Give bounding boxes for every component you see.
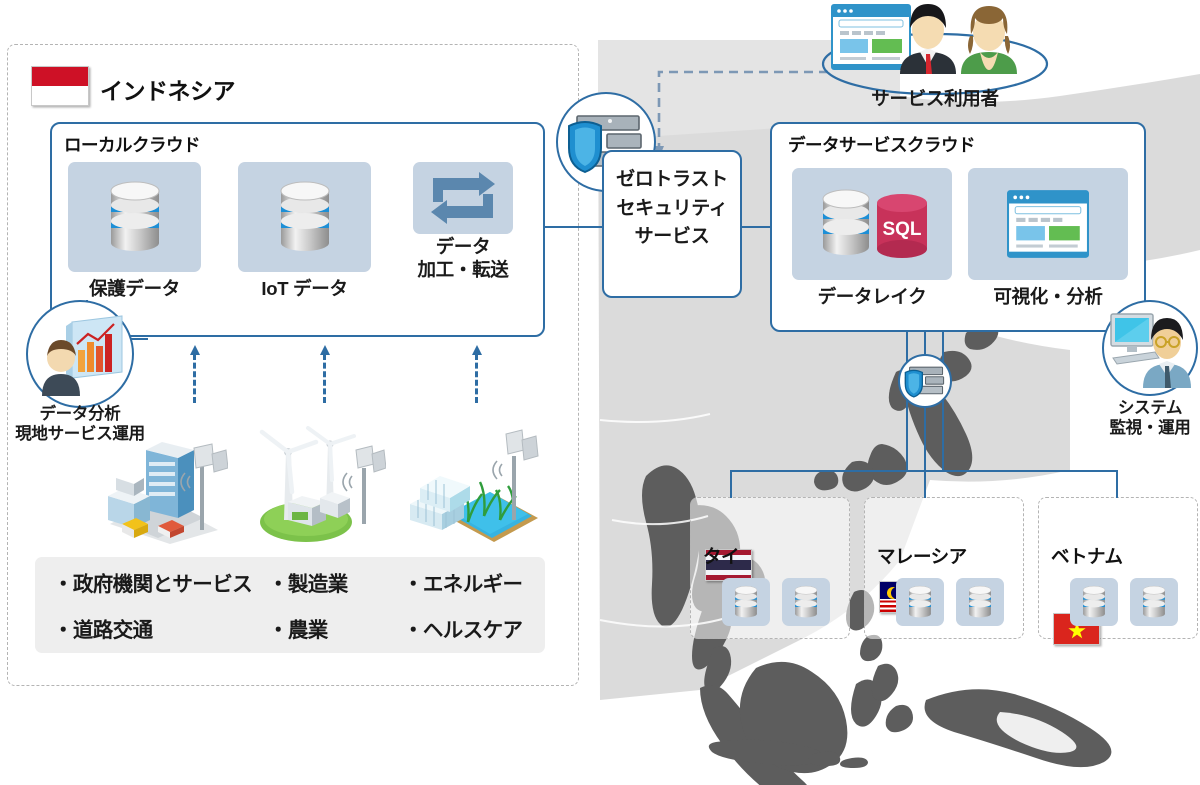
sector-item-5: ・ヘルスケア (403, 613, 527, 643)
flag-indonesia (31, 66, 89, 106)
iot-uplink-arrow-3 (472, 345, 482, 403)
database-icon (965, 583, 995, 621)
smart-city-isometric-icon (100, 432, 228, 544)
data-analyst-badge[interactable] (26, 300, 134, 408)
indonesia-label: インドネシア (100, 72, 235, 106)
sector-item-0: ・政府機関とサービス (53, 567, 268, 597)
firewall-shield-icon (904, 364, 946, 398)
local-cloud-tile-data-transfer[interactable] (413, 162, 513, 234)
sector-item-2: ・エネルギー (403, 567, 527, 597)
sector-list-panel: ・政府機関とサービス ・製造業 ・エネルギー ・道路交通 ・農業 ・ヘルスケア (35, 557, 545, 653)
database-sql-icon: SQL (807, 181, 937, 267)
data-transfer-loop-icon (425, 170, 501, 226)
sector-item-4: ・農業 (268, 613, 403, 643)
country-node-thailand-1[interactable] (722, 578, 770, 626)
database-icon (102, 177, 168, 257)
local-cloud-tile-iot-data[interactable] (238, 162, 371, 272)
data-analyst-label: データ分析現地サービス運用 (0, 404, 160, 444)
database-icon (272, 177, 338, 257)
database-icon (905, 583, 935, 621)
country-node-vietnam-1[interactable] (1070, 578, 1118, 626)
wind-farm-isometric-icon (258, 426, 386, 544)
local-cloud-caption-protected-data: 保護データ (68, 278, 201, 301)
diagram-canvas: インドネシア ローカルクラウド 保護データ (0, 0, 1200, 785)
connector-bus-to-malaysia (924, 470, 926, 498)
database-icon (1139, 583, 1169, 621)
map-sulawesi (851, 664, 913, 733)
iot-uplink-arrow-1 (190, 345, 200, 403)
country-node-malaysia-1[interactable] (896, 578, 944, 626)
local-cloud-caption-iot-data: IoT データ (238, 278, 371, 301)
connector-localcloud-zerotrust (545, 226, 603, 228)
zero-trust-line3: サービス (635, 226, 710, 247)
svg-text:SQL: SQL (882, 219, 921, 240)
system-operator-label: システム監視・運用 (1086, 398, 1200, 438)
sector-item-1: ・製造業 (268, 567, 403, 597)
system-operator-person-icon (1107, 308, 1193, 388)
data-analysis-person-icon (32, 310, 128, 398)
iot-uplink-arrow-2 (320, 345, 330, 403)
japan-firewall-badge (898, 354, 952, 408)
system-operator-badge[interactable] (1102, 300, 1198, 396)
data-service-cloud-title: データサービスクラウド (788, 132, 975, 157)
country-label-malaysia: マレーシア (877, 543, 967, 569)
dashboard-window-icon (1007, 190, 1089, 258)
connector-bus-to-thailand (730, 470, 732, 498)
country-label-thailand: タイ (703, 543, 739, 569)
zero-trust-line2: セキュリティ (616, 198, 727, 219)
data-service-tile-data-lake[interactable]: SQL (792, 168, 952, 280)
data-service-caption-data-lake: データレイク (792, 286, 952, 309)
local-cloud-title: ローカルクラウド (64, 132, 200, 157)
data-service-caption-visualization: 可視化・分析 (968, 286, 1128, 309)
database-icon (791, 583, 821, 621)
service-users-label: サービス利用者 (820, 88, 1050, 111)
connector-firewall-down (924, 398, 926, 472)
local-cloud-caption-data-transfer: データ加工・転送 (406, 236, 520, 281)
connector-zerotrust-dataservice (740, 226, 772, 228)
connector-bus-to-vietnam (1116, 470, 1118, 498)
country-node-vietnam-2[interactable] (1130, 578, 1178, 626)
database-icon (1079, 583, 1109, 621)
sector-item-3: ・道路交通 (53, 613, 268, 643)
zero-trust-line1: ゼロトラスト (616, 169, 728, 190)
data-service-tile-visualization[interactable] (968, 168, 1128, 280)
database-icon (731, 583, 761, 621)
smart-agriculture-isometric-icon (406, 426, 542, 544)
local-cloud-tile-protected-data[interactable] (68, 162, 201, 272)
country-node-malaysia-2[interactable] (956, 578, 1004, 626)
businessman-avatar-icon (896, 0, 960, 74)
country-label-vietnam: ベトナム (1051, 543, 1122, 569)
businesswoman-avatar-icon (958, 2, 1020, 74)
country-node-thailand-2[interactable] (782, 578, 830, 626)
zero-trust-label: ゼロトラスト セキュリティ サービス (602, 166, 742, 252)
